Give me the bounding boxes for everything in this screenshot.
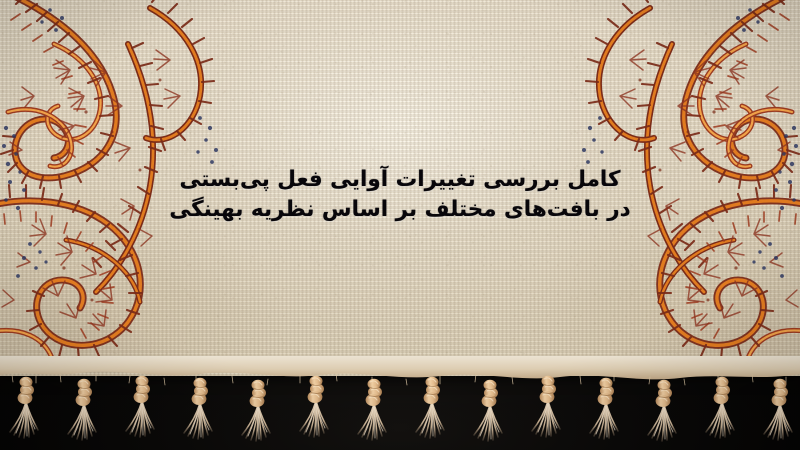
weave-texture-coarse xyxy=(0,0,800,376)
slide-canvas: کامل بررسی تغییرات آوایی فعل پی‌بستی در … xyxy=(0,0,800,450)
weave-texture-fine xyxy=(0,0,800,376)
embroidered-cloth xyxy=(0,0,800,376)
fabric-grain xyxy=(0,0,800,376)
